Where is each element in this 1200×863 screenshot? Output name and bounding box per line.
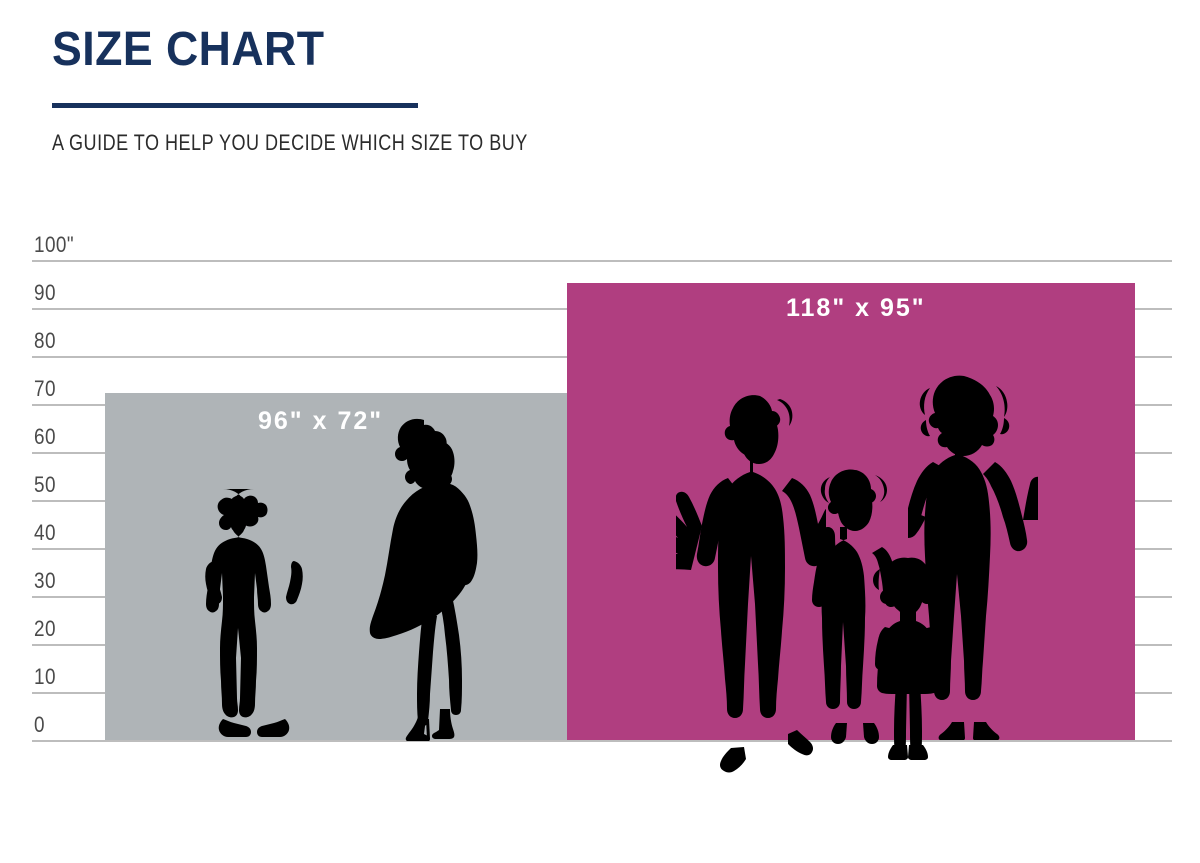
gridline-0 <box>32 740 1172 742</box>
bar-label-gray: 96" x 72" <box>258 407 383 436</box>
axis-label-80: 80 <box>34 328 56 354</box>
bar-gray-96x72 <box>105 393 567 740</box>
chart-area: 96" x 72" 118" x 95" 100" 90 80 70 60 50… <box>0 0 1200 863</box>
axis-label-0: 0 <box>34 712 45 738</box>
axis-label-10: 10 <box>34 664 56 690</box>
bar-pink-118x95 <box>567 283 1135 740</box>
axis-label-30: 30 <box>34 568 56 594</box>
axis-label-50: 50 <box>34 472 56 498</box>
axis-label-100: 100" <box>34 232 74 258</box>
gridline-100 <box>32 260 1172 262</box>
axis-label-70: 70 <box>34 376 56 402</box>
axis-label-60: 60 <box>34 424 56 450</box>
axis-label-40: 40 <box>34 520 56 546</box>
axis-label-20: 20 <box>34 616 56 642</box>
bar-label-pink: 118" x 95" <box>786 294 926 323</box>
axis-label-90: 90 <box>34 280 56 306</box>
size-chart-infographic: SIZE CHART A GUIDE TO HELP YOU DECIDE WH… <box>0 0 1200 863</box>
